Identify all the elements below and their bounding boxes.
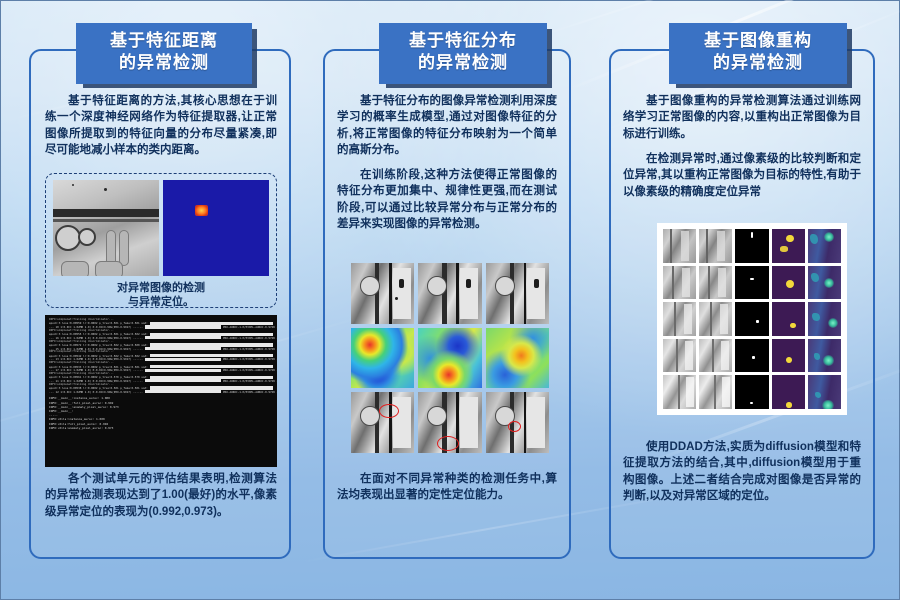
panel2-conclusion-text: 在面对不同异常种类的检测任务中,算法均表现出显著的定性定位能力。: [337, 471, 557, 504]
anomaly-score-blob: [786, 280, 794, 288]
segmentation-patch: [811, 273, 819, 282]
panel3-reconstruction-grid-frame: [657, 223, 847, 415]
panel1-figure-caption: 对异常图像的检测 与异常定位。: [53, 281, 269, 310]
panel-title-line1: 基于图像重构: [683, 30, 833, 52]
panel3-intro-text: 基于图像重构的异常检测算法通过训练网络学习正常图像的内容,以重构出正常图像为目标…: [623, 93, 861, 142]
panel-title-feature-distribution: 基于特征分布 的异常检测: [379, 23, 547, 84]
grid-cell-anomaly-map: [772, 339, 805, 373]
grayscale-input-image: [53, 180, 159, 276]
panel1-figure-dashed-box: 对异常图像的检测 与异常定位。: [45, 173, 277, 308]
segmentation-blob: [824, 232, 834, 242]
segmentation-patch: [815, 392, 821, 398]
segmentation-blob: [822, 400, 833, 409]
segmentation-blob: [828, 318, 838, 328]
grid-cell-segmentation: [808, 339, 841, 373]
panel2-detection-grid: [351, 263, 549, 453]
mask-blob: [756, 320, 759, 323]
grid-cell-heatmap: [351, 328, 414, 389]
grid-cell-reconstruction: [699, 302, 732, 336]
grid-cell-mask: [735, 339, 768, 373]
grid-cell-reconstruction: [699, 375, 732, 409]
anomaly-score-blob: [786, 235, 793, 242]
panel-title-line1: 基于特征分布: [393, 30, 533, 52]
anomaly-annotation: [508, 421, 521, 432]
segmentation-patch: [810, 234, 819, 244]
segmentation-blob: [824, 278, 834, 288]
anomaly-heatmap: [163, 180, 269, 276]
panel3-intro-text-2: 在检测异常时,通过像素级的比较判断和定位异常,其以重构正常图像为目标的特性,有助…: [623, 151, 861, 200]
grid-cell-segmentation: [808, 375, 841, 409]
panel2-intro-text: 基于特征分布的图像异常检测利用深度学习的概率生成模型,通过对图像特征的分析,将正…: [337, 93, 557, 158]
grid-cell-anomaly-map: [772, 266, 805, 300]
grid-cell-input: [663, 229, 696, 263]
panel-title-line2: 的异常检测: [683, 52, 833, 74]
anomaly-score-blob: [786, 402, 791, 407]
grid-cell-mask: [735, 375, 768, 409]
grid-cell-annotated: [418, 392, 481, 453]
panel-title-image-reconstruction: 基于图像重构 的异常检测: [669, 23, 847, 84]
grid-cell-segmentation: [808, 302, 841, 336]
panel3-conclusion-text: 使用DDAD方法,实质为diffusion模型和特征提取方法的结合,其中,dif…: [623, 439, 861, 504]
segmentation-patch: [814, 353, 821, 360]
panel2-intro-text-2: 在训练阶段,这种方法使得正常图像的特征分布更加集中、规律性更强,而在测试阶段,可…: [337, 167, 557, 232]
mask-blob: [750, 278, 754, 280]
grid-cell-input: [663, 302, 696, 336]
grid-cell-annotated: [351, 392, 414, 453]
terminal-metric-line: INFO:utils:anomaly_pixel_auroc: 0.973: [49, 426, 273, 430]
panel3-reconstruction-grid: [663, 229, 841, 409]
grid-cell-reconstruction: [699, 339, 732, 373]
grid-cell-input: [418, 263, 481, 324]
grid-cell-reconstruction: [699, 229, 732, 263]
grid-cell-input: [663, 375, 696, 409]
panel-title-feature-distance: 基于特征距离 的异常检测: [76, 23, 252, 84]
training-log-terminal: INFO:simplenet:Training discriminator...…: [45, 315, 277, 467]
mask-blob: [750, 402, 753, 404]
segmentation-patch: [812, 313, 819, 321]
grid-cell-segmentation: [808, 266, 841, 300]
grid-cell-input: [663, 339, 696, 373]
grid-cell-mask: [735, 229, 768, 263]
terminal-progress-line: --- 12 1:0.0CC 1.02MB 1.0) P-0.0CCO.99G(…: [49, 390, 273, 394]
grid-cell-heatmap: [486, 328, 549, 389]
grid-cell-input: [351, 263, 414, 324]
segmentation-blob: [823, 355, 834, 366]
grid-cell-segmentation: [808, 229, 841, 263]
anomaly-blob: [195, 205, 208, 216]
grid-cell-anomaly-map: [772, 375, 805, 409]
anomaly-score-blob: [780, 246, 789, 251]
poster-canvas: 基于特征距离 的异常检测 基于特征距离的方法,其核心思想在于训练一个深度神经网络…: [0, 0, 900, 600]
mask-blob: [752, 356, 755, 358]
grid-cell-reconstruction: [699, 266, 732, 300]
terminal-log-body: INFO:simplenet:Training discriminator...…: [49, 318, 273, 430]
grid-cell-annotated: [486, 392, 549, 453]
grid-cell-heatmap: [418, 328, 481, 389]
grid-cell-mask: [735, 266, 768, 300]
grid-cell-anomaly-map: [772, 229, 805, 263]
grid-cell-mask: [735, 302, 768, 336]
anomaly-score-blob: [786, 357, 792, 363]
panel-title-line2: 的异常检测: [393, 52, 533, 74]
panel1-conclusion-text: 各个测试单元的评估结果表明,检测算法的异常检测表现达到了1.00(最好)的水平,…: [45, 471, 277, 520]
grid-cell-anomaly-map: [772, 302, 805, 336]
panel1-intro-text: 基于特征距离的方法,其核心思想在于训练一个深度神经网络作为特征提取器,让正常图像…: [45, 93, 277, 158]
panel-title-line1: 基于特征距离: [90, 30, 238, 52]
grid-cell-input: [663, 266, 696, 300]
anomaly-score-blob: [790, 323, 795, 328]
grid-cell-input: [486, 263, 549, 324]
panel1-image-pair: [53, 180, 269, 276]
panel-title-line2: 的异常检测: [90, 52, 238, 74]
mask-blob: [751, 232, 753, 238]
